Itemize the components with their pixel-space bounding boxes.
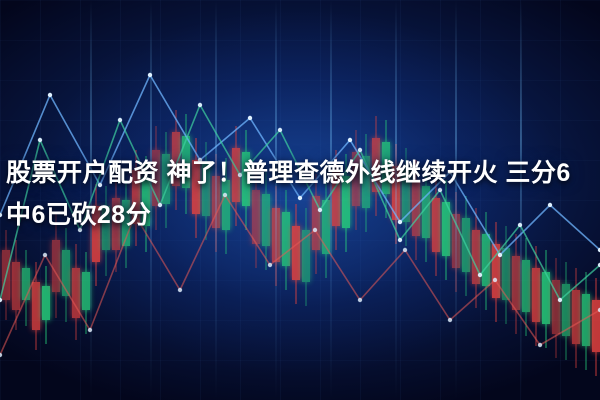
candle-body (22, 268, 30, 300)
candle-body (532, 268, 540, 322)
candle-body (502, 248, 510, 300)
candle-body (522, 260, 530, 312)
candle-body (72, 268, 80, 318)
candle-body (562, 284, 570, 336)
candle-body (552, 280, 560, 334)
candle-body (32, 282, 40, 330)
headline-text: 股票开户配资 神了！普理查德外线继续开火 三分6中6已砍28分 (0, 152, 600, 236)
candle-body (82, 272, 90, 310)
candle-body (302, 230, 310, 282)
candle-body (542, 272, 550, 324)
candle-body (582, 294, 590, 346)
candle-body (512, 256, 520, 310)
candle-body (472, 230, 480, 284)
image-canvas: 股票开户配资 神了！普理查德外线继续开火 三分6中6已砍28分 (0, 0, 600, 400)
candle-body (482, 234, 490, 286)
candle-body (492, 244, 500, 298)
candle-body (52, 240, 60, 292)
candle-body (592, 300, 600, 352)
candle-body (572, 290, 580, 344)
candle-body (42, 286, 50, 320)
candle-body (12, 262, 20, 310)
candle-body (2, 250, 10, 300)
candle-body (62, 250, 70, 296)
